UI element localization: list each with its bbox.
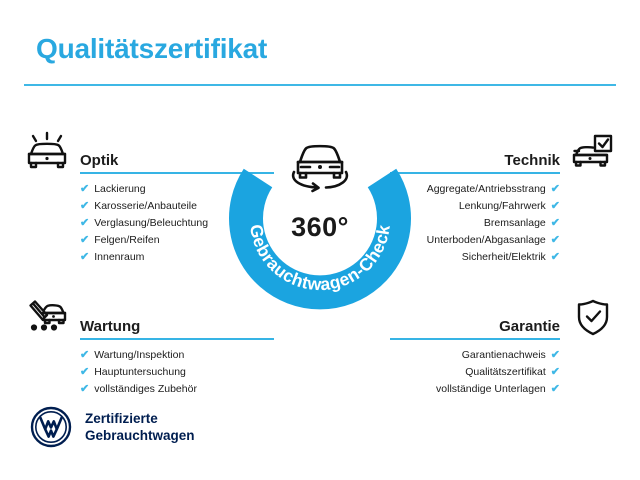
list-item: ✔Qualitätszertifikat: [390, 364, 560, 381]
list-item-label: Lenkung/Fahrwerk: [459, 198, 546, 215]
list-item: ✔vollständiges Zubehör: [80, 381, 274, 398]
right-column: Technik ✔Aggregate/Antriebsstrang ✔Lenku…: [390, 128, 616, 398]
list-item-label: Hauptuntersuchung: [94, 364, 186, 381]
check-icon: ✔: [80, 350, 89, 361]
list-item-label: Lackierung: [94, 181, 145, 198]
check-icon: ✔: [80, 367, 89, 378]
check-icon: ✔: [551, 252, 560, 263]
check-icon: ✔: [551, 350, 560, 361]
section-technik: Technik ✔Aggregate/Antriebsstrang ✔Lenku…: [390, 128, 616, 266]
header-divider: [24, 84, 616, 86]
vw-logo-icon: [30, 406, 72, 448]
check-icon: ✔: [551, 184, 560, 195]
check-icon: ✔: [80, 184, 89, 195]
page-title: Qualitätszertifikat: [36, 33, 267, 65]
check-icon: ✔: [551, 384, 560, 395]
list-item-label: Innenraum: [94, 249, 144, 266]
check-icon: ✔: [80, 201, 89, 212]
list-item-label: vollständige Unterlagen: [436, 381, 546, 398]
list-item-label: Verglasung/Beleuchtung: [94, 215, 208, 232]
section-garantie: Garantie ✔Garantienachweis ✔Qualitätszer…: [390, 294, 616, 398]
list-item: ✔Wartung/Inspektion: [80, 347, 274, 364]
check-icon: ✔: [551, 218, 560, 229]
list-item: ✔Hauptuntersuchung: [80, 364, 274, 381]
section-technik-list: ✔Aggregate/Antriebsstrang ✔Lenkung/Fahrw…: [390, 181, 616, 266]
list-item-label: Felgen/Reifen: [94, 232, 159, 249]
check-icon: ✔: [80, 218, 89, 229]
list-item-label: Karosserie/Anbauteile: [94, 198, 197, 215]
car-checkbox-icon: [570, 128, 616, 174]
footer-label: ZertifizierteGebrauchtwagen: [85, 410, 195, 445]
list-item-label: Wartung/Inspektion: [94, 347, 184, 364]
list-item-label: Garantienachweis: [462, 347, 546, 364]
badge-360-gebrauchtwagen-check: Gebrauchtwagen-Check: [224, 120, 416, 312]
check-icon: ✔: [551, 367, 560, 378]
check-icon: ✔: [80, 252, 89, 263]
section-wartung-title: Wartung: [80, 319, 274, 339]
section-wartung-list: ✔Wartung/Inspektion ✔Hauptuntersuchung ✔…: [24, 347, 274, 398]
car-service-tool-icon: [24, 294, 70, 340]
list-item-label: vollständiges Zubehör: [94, 381, 197, 398]
section-garantie-divider: [390, 338, 560, 340]
badge-center-value: 360°: [224, 212, 416, 243]
certificate-page: Qualitätszertifikat: [0, 0, 640, 480]
section-garantie-list: ✔Garantienachweis ✔Qualitätszertifikat ✔…: [390, 347, 616, 398]
section-wartung-divider: [80, 338, 274, 340]
check-icon: ✔: [551, 201, 560, 212]
section-garantie-header: Garantie: [390, 294, 616, 340]
section-technik-header: Technik: [390, 128, 616, 174]
footer-line-2: Gebrauchtwagen: [85, 428, 195, 443]
list-item-label: Aggregate/Antriebsstrang: [427, 181, 546, 198]
list-item-label: Qualitätszertifikat: [465, 364, 546, 381]
footer-brand: ZertifizierteGebrauchtwagen: [30, 406, 195, 448]
list-item: ✔Garantienachweis: [390, 347, 560, 364]
check-icon: ✔: [551, 235, 560, 246]
list-item-label: Sicherheit/Elektrik: [462, 249, 546, 266]
section-garantie-title: Garantie: [390, 319, 560, 339]
footer-line-1: Zertifizierte: [85, 411, 158, 426]
check-icon: ✔: [80, 384, 89, 395]
shield-check-icon: [570, 294, 616, 340]
list-item-label: Unterboden/Abgasanlage: [427, 232, 546, 249]
car-shine-icon: [24, 128, 70, 174]
list-item: ✔vollständige Unterlagen: [390, 381, 560, 398]
check-icon: ✔: [80, 235, 89, 246]
list-item-label: Bremsanlage: [484, 215, 546, 232]
